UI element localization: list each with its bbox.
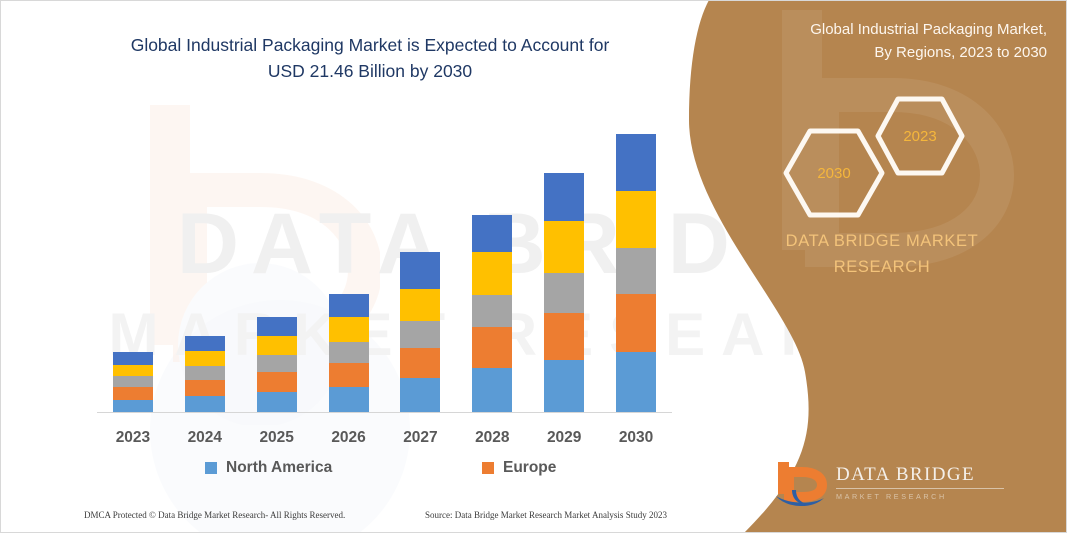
bar-segment-2026-europe [329, 363, 369, 387]
legend-swatch-icon [482, 462, 494, 474]
bar-segment-2025-north-america [257, 392, 297, 412]
bar-segment-2030-series-4 [616, 191, 656, 248]
bar-segment-2027-series-4 [400, 289, 440, 321]
panel-brand-line-2: RESEARCH [717, 254, 1047, 280]
bar-segment-2024-north-america [185, 396, 225, 412]
x-axis-label-2030: 2030 [600, 429, 672, 447]
stacked-bar-chart [97, 120, 672, 412]
bar-2024 [185, 336, 225, 413]
x-axis-label-2026: 2026 [313, 429, 385, 447]
bar-segment-2027-north-america [400, 378, 440, 412]
x-axis-label-2027: 2027 [384, 429, 456, 447]
bar-segment-2024-series-4 [185, 351, 225, 366]
footer-copyright: DMCA Protected © Data Bridge Market Rese… [84, 510, 345, 520]
bar-segment-2023-series-5 [113, 352, 153, 365]
logo-text: DATA BRIDGE MARKET RESEARCH [836, 464, 1004, 501]
hexagon-group: 2023 2030 [782, 95, 1032, 215]
bar-segment-2028-series-4 [472, 252, 512, 295]
bar-segment-2023-series-3 [113, 376, 153, 387]
page-title: Global Industrial Packaging Market is Ex… [70, 32, 670, 85]
bar-segment-2028-series-3 [472, 295, 512, 327]
bar-segment-2024-europe [185, 380, 225, 396]
bar-segment-2029-europe [544, 313, 584, 359]
hexagon-2030-label: 2030 [782, 127, 886, 219]
bar-2028 [472, 215, 512, 412]
panel-title-line-1: Global Industrial Packaging Market, [717, 18, 1047, 41]
hexagon-2023-label: 2023 [874, 95, 966, 177]
brand-logo: DATA BRIDGE MARKET RESEARCH [772, 460, 1037, 512]
bar-2025 [257, 317, 297, 412]
bar-segment-2029-series-3 [544, 273, 584, 313]
bar-segment-2030-europe [616, 294, 656, 351]
title-line-2: USD 21.46 Billion by 2030 [70, 58, 670, 84]
bar-2023 [113, 352, 153, 412]
bar-segment-2028-series-5 [472, 215, 512, 252]
bar-segment-2023-europe [113, 387, 153, 400]
bar-segment-2025-series-4 [257, 336, 297, 355]
bar-segment-2027-europe [400, 348, 440, 378]
legend-swatch-icon [205, 462, 217, 474]
bar-2026 [329, 294, 369, 412]
right-panel: Global Industrial Packaging Market, By R… [687, 0, 1067, 533]
bar-segment-2027-series-3 [400, 321, 440, 347]
x-axis-label-2028: 2028 [456, 429, 528, 447]
logo-divider [836, 488, 1004, 489]
logo-subtitle: MARKET RESEARCH [836, 492, 1004, 501]
infographic-canvas: DATA BRIDGE MARKET RESEARCH Global Indus… [0, 0, 1067, 533]
bar-2029 [544, 173, 584, 412]
chart-legend: North AmericaEurope [97, 456, 672, 480]
bar-segment-2029-north-america [544, 360, 584, 412]
hexagon-2030: 2030 [782, 127, 886, 219]
bar-segment-2026-north-america [329, 387, 369, 412]
bar-2027 [400, 252, 440, 412]
legend-label: North America [226, 459, 332, 477]
bar-segment-2028-europe [472, 327, 512, 367]
bar-segment-2026-series-5 [329, 294, 369, 317]
panel-brand-line-1: DATA BRIDGE MARKET [717, 228, 1047, 254]
panel-brand: DATA BRIDGE MARKET RESEARCH [717, 228, 1047, 281]
legend-item-europe[interactable]: Europe [482, 459, 556, 477]
title-line-1: Global Industrial Packaging Market is Ex… [70, 32, 670, 58]
bar-segment-2028-north-america [472, 368, 512, 412]
chart-plot-area [97, 120, 672, 412]
bar-segment-2030-north-america [616, 352, 656, 412]
hexagon-2023: 2023 [874, 95, 966, 177]
x-axis-line [97, 412, 672, 413]
legend-item-north-america[interactable]: North America [205, 459, 332, 477]
bar-segment-2030-series-5 [616, 134, 656, 190]
bar-segment-2030-series-3 [616, 248, 656, 294]
x-axis-label-2025: 2025 [241, 429, 313, 447]
bar-2030 [616, 134, 656, 412]
footer-source: Source: Data Bridge Market Research Mark… [425, 510, 667, 520]
bar-segment-2023-north-america [113, 400, 153, 412]
x-axis-label-2029: 2029 [528, 429, 600, 447]
panel-title: Global Industrial Packaging Market, By R… [717, 18, 1047, 65]
x-axis-label-2023: 2023 [97, 429, 169, 447]
data-bridge-logo-icon [772, 460, 828, 510]
bar-segment-2029-series-4 [544, 221, 584, 273]
x-axis-label-2024: 2024 [169, 429, 241, 447]
bar-segment-2025-europe [257, 372, 297, 392]
bar-segment-2023-series-4 [113, 365, 153, 376]
legend-label: Europe [503, 459, 556, 477]
bar-segment-2027-series-5 [400, 252, 440, 289]
bar-segment-2029-series-5 [544, 173, 584, 220]
panel-title-line-2: By Regions, 2023 to 2030 [717, 41, 1047, 64]
bar-segment-2025-series-3 [257, 355, 297, 372]
bar-segment-2026-series-4 [329, 317, 369, 341]
bar-segment-2026-series-3 [329, 342, 369, 363]
bar-segment-2024-series-3 [185, 366, 225, 380]
bar-segment-2024-series-5 [185, 336, 225, 351]
bar-segment-2025-series-5 [257, 317, 297, 335]
logo-title: DATA BRIDGE [836, 464, 1004, 486]
